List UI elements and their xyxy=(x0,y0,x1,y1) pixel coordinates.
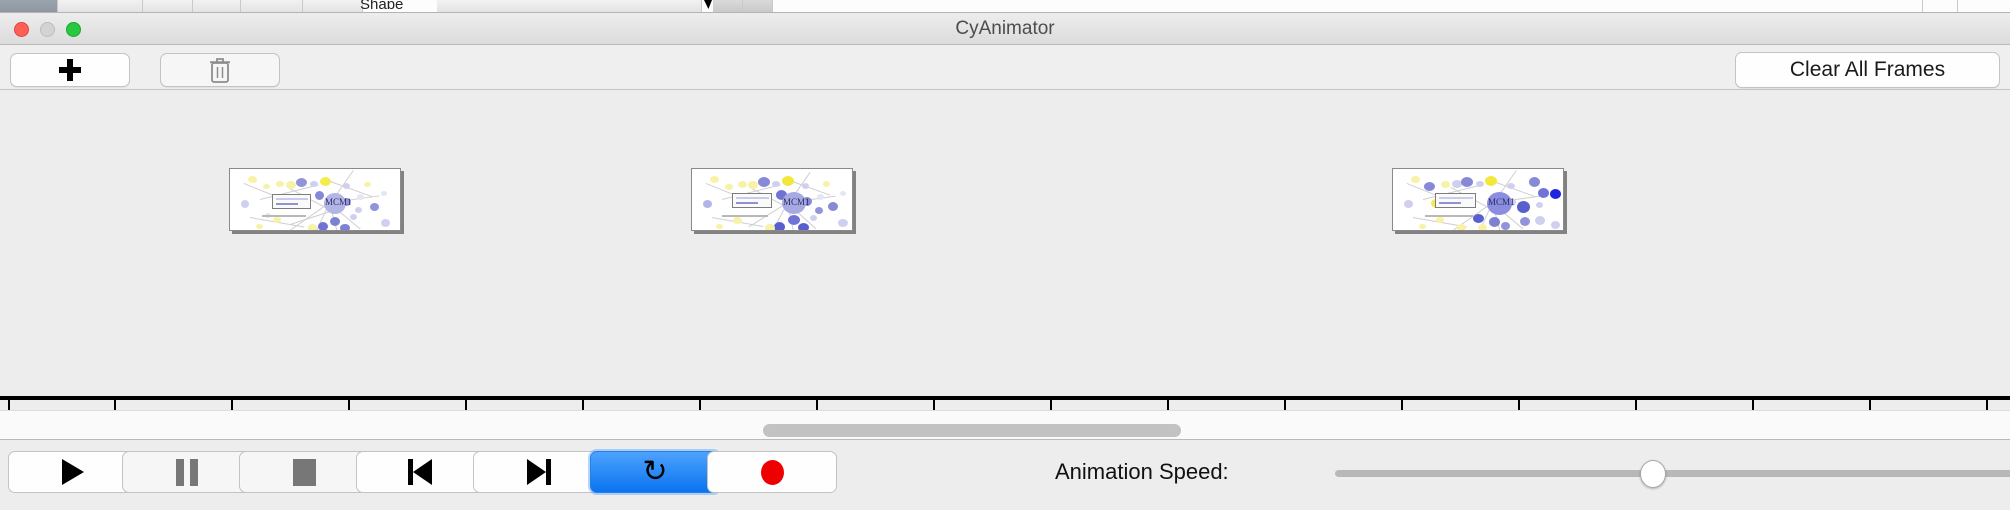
window-title: CyAnimator xyxy=(0,13,2010,45)
skip-forward-icon xyxy=(525,459,551,485)
add-frame-button[interactable] xyxy=(10,53,130,87)
axis-tick-minor xyxy=(1518,400,1520,410)
play-icon xyxy=(62,459,84,485)
loop-button[interactable]: ↻ xyxy=(590,451,720,493)
bg-tab xyxy=(193,0,241,13)
axis-tick-minor xyxy=(1986,400,1988,410)
clear-all-frames-button[interactable]: Clear All Frames xyxy=(1735,52,2000,88)
title-bar[interactable]: CyAnimator xyxy=(0,13,2010,45)
animation-speed-label: Animation Speed: xyxy=(1055,451,1229,493)
network-graph-preview: MCM1 xyxy=(230,169,400,230)
bg-tab xyxy=(58,0,143,13)
bg-tab xyxy=(713,0,743,13)
clear-all-frames-label: Clear All Frames xyxy=(1790,58,1945,82)
stop-icon xyxy=(293,459,316,486)
cyanimator-window: Shape CyAnimator xyxy=(0,0,2010,510)
bg-tab xyxy=(143,0,193,13)
axis-tick-minor xyxy=(348,400,350,410)
axis-tick-major xyxy=(1167,400,1169,410)
bg-tab xyxy=(437,0,702,13)
timeline-panel[interactable]: MCM1 xyxy=(0,90,2010,410)
animation-speed-slider[interactable] xyxy=(1335,470,2010,477)
bg-tab xyxy=(1905,0,1923,13)
axis-tick-major xyxy=(1401,400,1403,410)
bg-tab xyxy=(303,0,363,13)
axis-tick-minor xyxy=(1050,400,1052,410)
playback-control-bar: ↻ Animation Speed: xyxy=(0,441,2010,510)
axis-tick-major xyxy=(8,400,10,410)
axis-tick-major xyxy=(699,400,701,410)
bg-tab xyxy=(775,0,1905,13)
timeline-scrollbar-thumb[interactable] xyxy=(763,424,1181,437)
bg-tab xyxy=(743,0,773,13)
pause-button[interactable] xyxy=(122,451,252,493)
bg-tab xyxy=(1940,0,1958,13)
skip-back-icon xyxy=(408,459,434,485)
axis-tick-minor xyxy=(1752,400,1754,410)
record-icon xyxy=(761,460,784,485)
frame-toolbar: Clear All Frames xyxy=(0,45,2010,90)
skip-to-end-button[interactable] xyxy=(473,451,603,493)
animation-speed-slider-thumb[interactable] xyxy=(1640,460,1666,488)
bg-tab xyxy=(241,0,303,13)
pause-icon xyxy=(176,459,198,486)
axis-tick-minor xyxy=(1284,400,1286,410)
axis-tick-major xyxy=(231,400,233,410)
trash-icon xyxy=(208,56,232,84)
axis-tick-minor xyxy=(582,400,584,410)
network-graph-preview: MCM1 xyxy=(692,169,852,230)
record-button[interactable] xyxy=(707,451,837,493)
stop-button[interactable] xyxy=(239,451,369,493)
skip-to-start-button[interactable] xyxy=(356,451,486,493)
axis-tick-major xyxy=(933,400,935,410)
bg-marker-icon xyxy=(704,0,712,9)
frame-thumbnail[interactable]: MCM1 xyxy=(1392,168,1564,231)
axis-tick-minor xyxy=(114,400,116,410)
plus-icon xyxy=(59,59,81,81)
axis-tick-minor xyxy=(816,400,818,410)
axis-tick-major xyxy=(1869,400,1871,410)
timeline-axis xyxy=(0,396,2010,400)
axis-tick-major xyxy=(465,400,467,410)
axis-tick-major xyxy=(1635,400,1637,410)
frame-thumbnail[interactable]: MCM1 xyxy=(691,168,853,231)
bg-window-label: Shape xyxy=(360,0,435,9)
delete-frame-button[interactable] xyxy=(160,53,280,87)
frame-thumbnail[interactable]: MCM1 xyxy=(229,168,401,231)
network-graph-preview: MCM1 xyxy=(1393,169,1563,230)
background-window-strip: Shape xyxy=(0,0,2010,13)
play-button[interactable] xyxy=(8,451,138,493)
bg-tab xyxy=(1978,0,2010,13)
bg-tab-selected xyxy=(0,0,58,13)
loop-icon: ↻ xyxy=(642,457,667,487)
